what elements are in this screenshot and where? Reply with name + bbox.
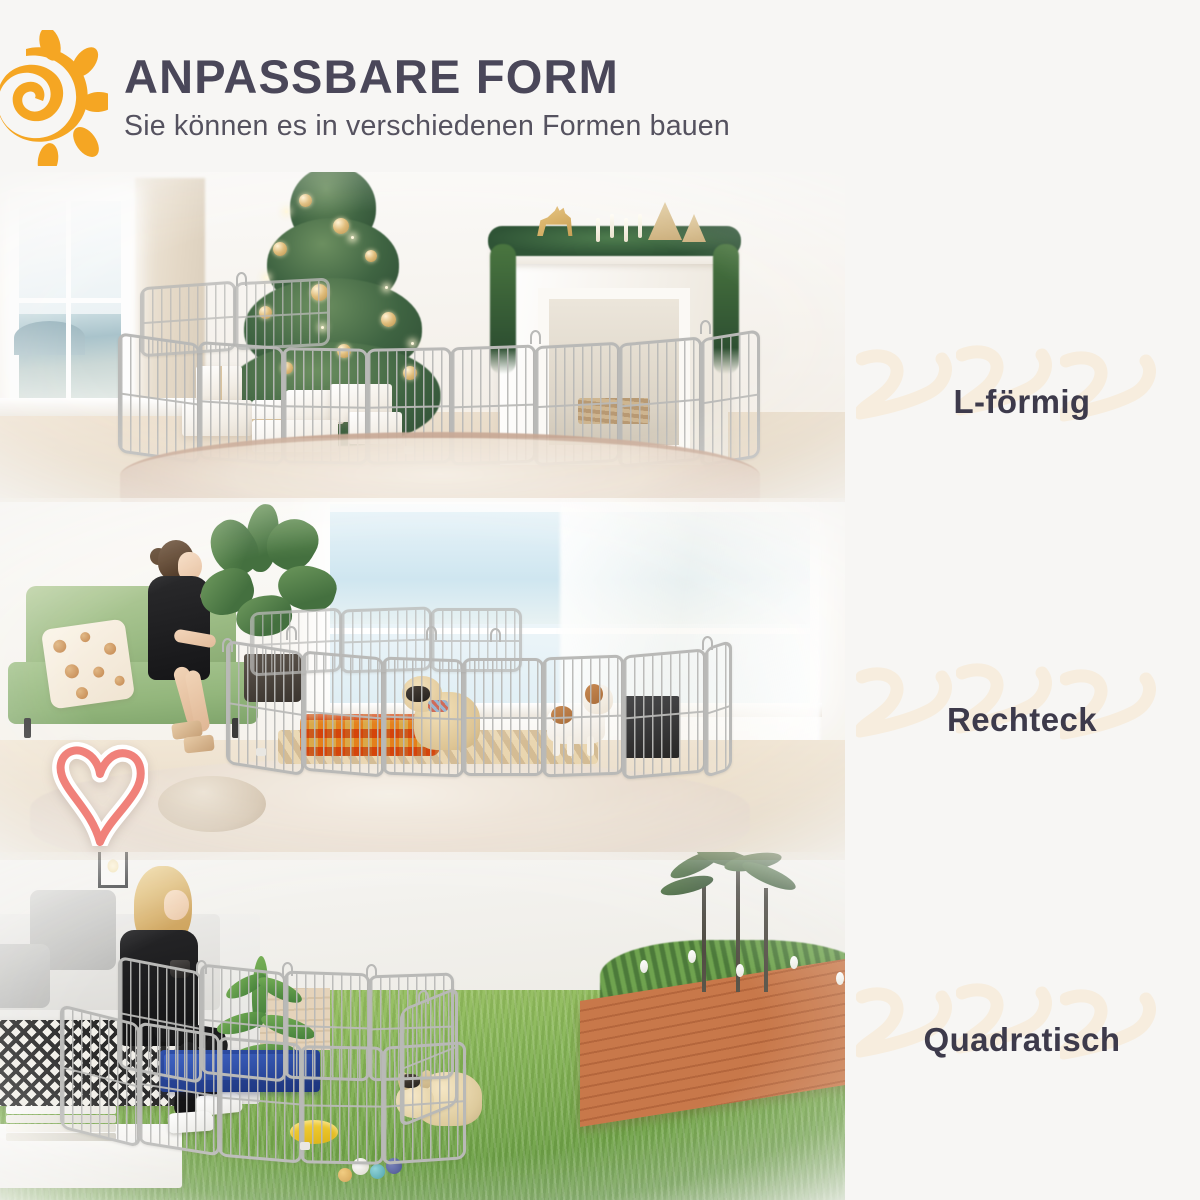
hill — [14, 321, 85, 355]
pen-hook — [282, 962, 293, 976]
pen-panel-rear — [430, 608, 522, 672]
pen-hook — [530, 330, 541, 344]
pen-hook — [700, 320, 711, 334]
pen-hook — [366, 964, 377, 978]
white-flower — [640, 960, 648, 973]
pen-panel-side — [400, 986, 458, 1127]
ornament — [333, 218, 349, 234]
polka-dot-pillow — [41, 619, 135, 710]
pen-panel — [60, 1004, 140, 1148]
pen-hook — [702, 636, 713, 650]
pen-hook — [418, 990, 429, 1004]
page-subtitle: Sie können es in verschiedenen Formen ba… — [124, 110, 730, 143]
palm-trees — [652, 852, 802, 988]
white-flower — [736, 964, 744, 977]
pen-panel — [700, 329, 760, 467]
toy-ball — [338, 1168, 352, 1182]
pen-hook — [490, 628, 501, 642]
page-title: ANPASSBARE FORM — [124, 52, 730, 101]
beige-pouf — [158, 776, 266, 832]
shape-label-l-shaped: L-förmig — [852, 337, 1192, 467]
candle — [638, 214, 642, 238]
shape-label-text: Quadratisch — [852, 1021, 1192, 1059]
pen-panel-rear — [250, 608, 342, 677]
pillow-dot — [52, 639, 67, 654]
pillow-dot — [64, 663, 80, 679]
pen-hook — [222, 638, 233, 652]
white-flower — [836, 972, 844, 985]
sofa-leg — [24, 718, 31, 738]
white-flower — [688, 950, 696, 963]
tree-light — [351, 236, 354, 239]
pen-panel-rear — [234, 277, 330, 350]
brand-logo — [300, 1142, 310, 1150]
pen-panel-gate — [218, 1036, 302, 1163]
pen-hook — [286, 626, 297, 640]
tree-light — [385, 286, 388, 289]
pen-panel — [462, 658, 544, 776]
pen-panel-side — [704, 639, 732, 778]
pillow-dot — [103, 642, 117, 656]
tree-light — [285, 210, 288, 213]
pillow-dot — [114, 675, 125, 686]
page-header: ANPASSBARE FORM Sie können es in verschi… — [0, 0, 1200, 178]
ornament — [273, 242, 287, 256]
shoe — [183, 734, 215, 753]
ornament — [299, 194, 312, 207]
tree-light — [265, 276, 268, 279]
candle — [624, 218, 628, 242]
white-flower — [790, 956, 798, 969]
photo-l-shaped — [0, 172, 845, 502]
heart-icon — [52, 742, 148, 846]
scene-christmas-living-room — [0, 172, 845, 502]
shape-label-text: Rechteck — [852, 701, 1192, 739]
tree-light — [411, 342, 414, 345]
pen-panel-gate — [300, 1045, 384, 1164]
pen-panel — [542, 655, 624, 778]
brand-logo — [256, 748, 266, 756]
scene-garden-patio — [0, 852, 845, 1200]
pen-panel-rear — [140, 281, 236, 358]
pen-hook — [426, 626, 437, 640]
shape-label-square: Quadratisch — [852, 975, 1192, 1105]
pen-hook — [196, 960, 207, 974]
shape-label-text: L-förmig — [852, 383, 1192, 421]
photo-square — [0, 852, 845, 1200]
pillow-dot — [75, 686, 89, 700]
spiral-sun-icon — [0, 30, 108, 166]
pen-panel — [138, 1022, 220, 1157]
pen-panel — [622, 648, 706, 779]
pen-hook — [236, 272, 247, 286]
window — [10, 192, 130, 412]
candle — [610, 214, 614, 238]
face — [164, 890, 189, 920]
toy-ball — [370, 1164, 385, 1179]
ornament — [381, 312, 396, 327]
palm-trunk — [764, 888, 768, 992]
header-text-block: ANPASSBARE FORM Sie können es in verschi… — [124, 52, 730, 143]
candle — [596, 218, 600, 242]
pen-panel — [382, 657, 464, 778]
pen-panel-rear — [340, 606, 432, 673]
pillow-dot — [80, 631, 91, 642]
pillow-dot — [93, 666, 105, 678]
ornament — [365, 250, 377, 262]
grey-pillow — [0, 944, 50, 1008]
shape-label-rectangle: Rechteck — [852, 655, 1192, 785]
window-mullion-vertical — [66, 201, 71, 403]
palm-trunk — [702, 882, 706, 992]
